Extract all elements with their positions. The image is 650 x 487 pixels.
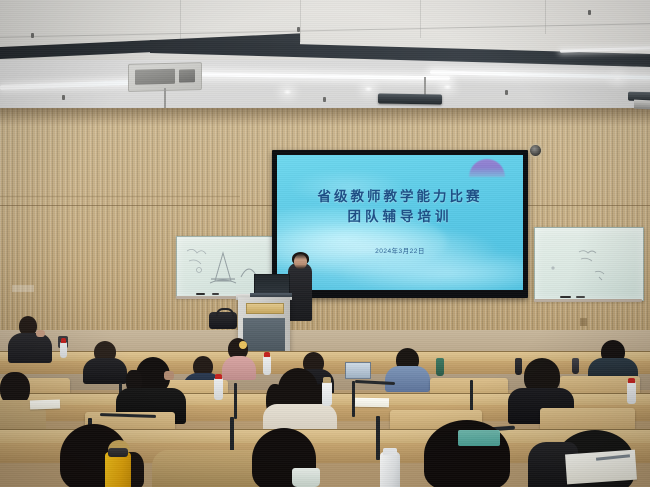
water-bottle (263, 356, 271, 375)
speaker-mount (424, 77, 426, 96)
slide-sun-arc-icon (469, 159, 505, 177)
water-bottle (627, 382, 636, 404)
attendee-torso (83, 358, 127, 384)
whiteboard-tray (534, 299, 642, 302)
bottle-cap (628, 378, 635, 383)
bottle-cap (383, 448, 397, 455)
wall-plate (12, 285, 34, 292)
whiteboard-right (534, 227, 644, 301)
bottle-cap (264, 352, 270, 357)
water-bottle (572, 358, 579, 374)
thermos (436, 358, 444, 376)
attendee-face (164, 371, 174, 380)
wall-plate (580, 318, 587, 326)
bottle-cap (215, 374, 222, 379)
presenter-body (288, 263, 312, 321)
bottle-cap (61, 338, 66, 343)
ceiling-seam (420, 0, 421, 38)
cup (292, 468, 320, 487)
attendee-torso (385, 366, 430, 392)
water-bottle (322, 382, 332, 406)
laptop-base (250, 293, 292, 297)
lecture-hall-photo: 省级教师教学能力比赛 团队辅导培训 2024年3月22日 (0, 0, 650, 487)
ceiling-seam (545, 0, 546, 34)
bottle-cap (323, 377, 331, 383)
water-bottle (515, 358, 522, 375)
attendee-torso (8, 333, 52, 363)
sprinkler-icon (297, 27, 300, 32)
sprinkler-icon (62, 95, 65, 100)
ceiling-seam (300, 0, 301, 42)
notebook (30, 399, 60, 409)
seat-back (540, 408, 635, 431)
wall-shadow (0, 108, 650, 126)
attendee-torso (222, 356, 256, 380)
projection-screen: 省级教师教学能力比赛 团队辅导培训 2024年3月22日 (277, 155, 523, 290)
sprinkler-icon (31, 33, 34, 38)
ceiling-spotlight (283, 89, 292, 95)
marker-pen (560, 296, 571, 298)
attendee-face (36, 330, 45, 337)
podium-front-panel (243, 318, 285, 354)
water-bottle-foreground (380, 452, 400, 487)
thermos-cap (108, 448, 128, 457)
sprinkler-icon (505, 90, 508, 95)
marker-pen (576, 296, 585, 298)
presenter-head (294, 254, 307, 269)
yellow-thermos (105, 452, 131, 487)
wall-seam (0, 196, 240, 197)
slide-date: 2024年3月22日 (277, 245, 523, 255)
water-bottle (60, 342, 67, 358)
paper-sheet (458, 430, 500, 446)
marker-pen (212, 293, 219, 295)
camera-icon (530, 145, 541, 156)
hair-clip (239, 341, 247, 349)
sprinkler-icon (323, 97, 326, 102)
notebook (355, 398, 389, 408)
sprinkler-icon (588, 10, 591, 15)
marker-pen (196, 293, 205, 295)
podium-nameplate (246, 303, 284, 314)
attendee-laptop (345, 362, 371, 379)
desk-rail-post (234, 383, 237, 419)
slide-title-line2: 团队辅导培训 (277, 205, 523, 225)
wall-speaker (634, 100, 650, 110)
whiteboard-drawing (535, 228, 643, 300)
hanging-speaker-center (378, 93, 442, 104)
bag-handle (216, 308, 234, 317)
ceiling-spotlight (613, 75, 622, 81)
water-bottle (214, 378, 223, 400)
ceiling-spotlight (364, 86, 373, 92)
ceiling-spotlight (443, 84, 452, 90)
